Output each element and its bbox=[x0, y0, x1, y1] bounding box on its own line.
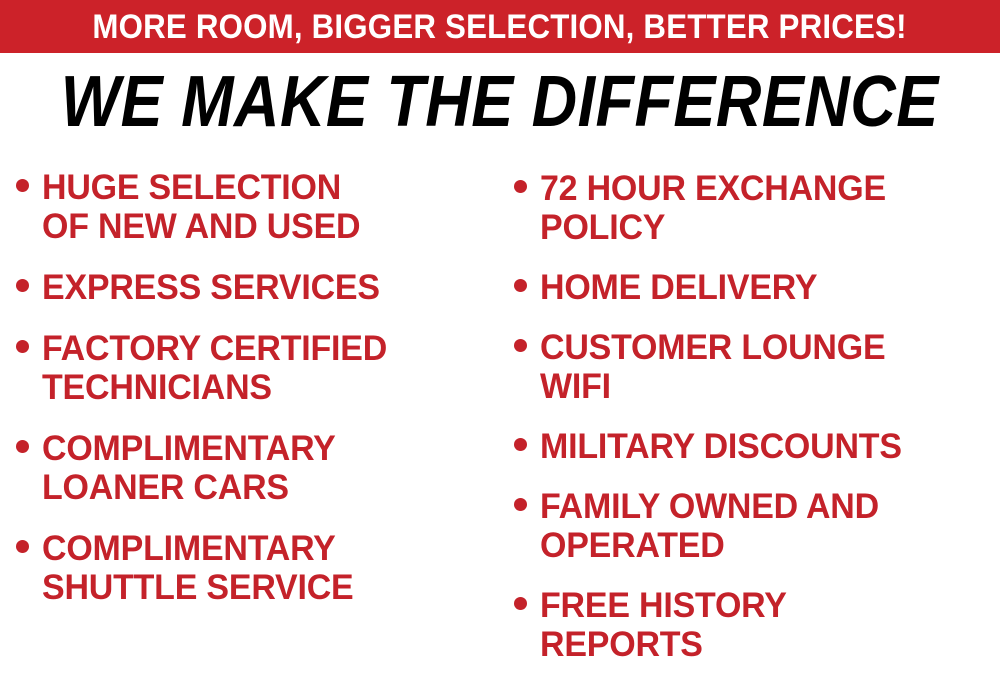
list-item-label: FAMILY OWNED AND OPERATED bbox=[540, 487, 879, 565]
list-item-label: CUSTOMER LOUNGE WIFI bbox=[540, 328, 885, 406]
bullet-dot-icon bbox=[514, 438, 527, 451]
list-item: COMPLIMENTARY SHUTTLE SERVICE bbox=[16, 529, 500, 607]
list-item: 72 HOUR EXCHANGE POLICY bbox=[514, 169, 1000, 247]
bullet-dot-icon bbox=[16, 179, 29, 192]
list-item-label: COMPLIMENTARY SHUTTLE SERVICE bbox=[42, 529, 354, 607]
headline: WE MAKE THE DIFFERENCE bbox=[0, 61, 1000, 141]
headline-text: WE MAKE THE DIFFERENCE bbox=[61, 65, 939, 138]
list-item: HOME DELIVERY bbox=[514, 268, 1000, 307]
top-banner-text: MORE ROOM, BIGGER SELECTION, BETTER PRIC… bbox=[93, 10, 907, 44]
list-item: CUSTOMER LOUNGE WIFI bbox=[514, 328, 1000, 406]
bullet-dot-icon bbox=[16, 540, 29, 553]
list-item-label: COMPLIMENTARY LOANER CARS bbox=[42, 429, 336, 507]
list-item-label: FREE HISTORY REPORTS bbox=[540, 586, 787, 664]
bullet-dot-icon bbox=[514, 597, 527, 610]
promo-poster: MORE ROOM, BIGGER SELECTION, BETTER PRIC… bbox=[0, 0, 1000, 694]
list-item: FACTORY CERTIFIED TECHNICIANS bbox=[16, 329, 500, 407]
list-item-label: 72 HOUR EXCHANGE POLICY bbox=[540, 169, 886, 247]
bullet-dot-icon bbox=[514, 180, 527, 193]
bullet-dot-icon bbox=[16, 279, 29, 292]
bullet-dot-icon bbox=[16, 440, 29, 453]
benefits-column-left: HUGE SELECTION OF NEW AND USED EXPRESS S… bbox=[0, 160, 500, 629]
list-item: EXPRESS SERVICES bbox=[16, 268, 500, 307]
list-item: FAMILY OWNED AND OPERATED bbox=[514, 487, 1000, 565]
bullet-dot-icon bbox=[514, 339, 527, 352]
list-item: MILITARY DISCOUNTS bbox=[514, 427, 1000, 466]
top-banner: MORE ROOM, BIGGER SELECTION, BETTER PRIC… bbox=[0, 0, 1000, 53]
benefits-column-right: 72 HOUR EXCHANGE POLICY HOME DELIVERY CU… bbox=[500, 160, 1000, 685]
list-item: HUGE SELECTION OF NEW AND USED bbox=[16, 168, 500, 246]
bullet-dot-icon bbox=[514, 498, 527, 511]
bullet-dot-icon bbox=[514, 279, 527, 292]
benefits-columns: HUGE SELECTION OF NEW AND USED EXPRESS S… bbox=[0, 160, 1000, 694]
list-item-label: FACTORY CERTIFIED TECHNICIANS bbox=[42, 329, 387, 407]
list-item-label: HOME DELIVERY bbox=[540, 268, 817, 307]
list-item: COMPLIMENTARY LOANER CARS bbox=[16, 429, 500, 507]
list-item-label: EXPRESS SERVICES bbox=[42, 268, 380, 307]
list-item: FREE HISTORY REPORTS bbox=[514, 586, 1000, 664]
bullet-dot-icon bbox=[16, 340, 29, 353]
list-item-label: HUGE SELECTION OF NEW AND USED bbox=[42, 168, 360, 246]
list-item-label: MILITARY DISCOUNTS bbox=[540, 427, 902, 466]
